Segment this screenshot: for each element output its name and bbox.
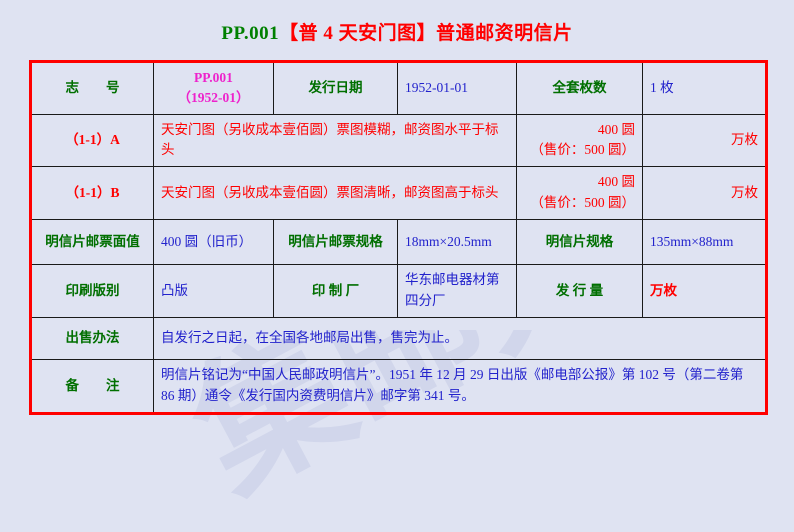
cell-value-printer: 华东邮电器材第四分厂	[398, 265, 517, 318]
cell-value-sale-method: 自发行之日起，在全国各地邮局出售，售完为止。	[154, 318, 767, 360]
cell-desc-variant-b: 天安门图（另收成本壹佰圆）票图清晰，邮资图高于标头	[154, 167, 517, 220]
cell-label-print-method: 印刷版别	[31, 265, 154, 318]
cell-label-set-count: 全套枚数	[517, 62, 643, 115]
cell-label-variant-a: （1-1）A	[31, 114, 154, 167]
cell-price-variant-b: 400 圆 （售价：500 圆）	[517, 167, 643, 220]
cell-quantity-variant-b: 万枚	[643, 167, 767, 220]
zhihao-year: （1952-01）	[161, 88, 266, 108]
table-row: 备 注 明信片铭记为“中国人民邮政明信片”。1951 年 12 月 29 日出版…	[31, 360, 767, 414]
cell-value-zhihao: PP.001 （1952-01）	[154, 62, 274, 115]
table-row: 志 号 PP.001 （1952-01） 发行日期 1952-01-01 全套枚…	[31, 62, 767, 115]
cell-value-print-method: 凸版	[154, 265, 274, 318]
zhihao-code: PP.001	[161, 68, 266, 88]
variant-b-sale-price: （售价：500 圆）	[524, 193, 635, 214]
cell-label-sale-method: 出售办法	[31, 318, 154, 360]
cell-value-issue-date: 1952-01-01	[398, 62, 517, 115]
cell-quantity-variant-a: 万枚	[643, 114, 767, 167]
cell-desc-variant-a: 天安门图（另收成本壹佰圆）票图模糊，邮资图水平于标头	[154, 114, 517, 167]
cell-label-zhihao: 志 号	[31, 62, 154, 115]
cell-label-variant-b: （1-1）B	[31, 167, 154, 220]
cell-label-stamp-size: 明信片邮票规格	[274, 220, 398, 265]
page-title-main: 【普 4 天安门图】普通邮资明信片	[279, 23, 573, 44]
cell-label-remarks: 备 注	[31, 360, 154, 414]
cell-label-printer: 印 制 厂	[274, 265, 398, 318]
cell-label-issue-date: 发行日期	[274, 62, 398, 115]
variant-a-face-value: 400 圆	[524, 120, 635, 141]
cell-value-set-count: 1 枚	[643, 62, 767, 115]
cell-label-face-value: 明信片邮票面值	[31, 220, 154, 265]
variant-b-face-value: 400 圆	[524, 172, 635, 193]
cell-value-face-value: 400 圆（旧币）	[154, 220, 274, 265]
table-row: 印刷版别 凸版 印 制 厂 华东邮电器材第四分厂 发 行 量 万枚	[31, 265, 767, 318]
cell-label-print-quantity: 发 行 量	[517, 265, 643, 318]
page-title-code: PP.001	[221, 23, 279, 44]
stamp-info-table: 志 号 PP.001 （1952-01） 发行日期 1952-01-01 全套枚…	[29, 60, 768, 415]
cell-value-print-quantity: 万枚	[643, 265, 767, 318]
page-title: PP.001【普 4 天安门图】普通邮资明信片	[0, 0, 794, 45]
cell-price-variant-a: 400 圆 （售价：500 圆）	[517, 114, 643, 167]
table-row: （1-1）B 天安门图（另收成本壹佰圆）票图清晰，邮资图高于标头 400 圆 （…	[31, 167, 767, 220]
table-row: （1-1）A 天安门图（另收成本壹佰圆）票图模糊，邮资图水平于标头 400 圆 …	[31, 114, 767, 167]
cell-value-card-size: 135mm×88mm	[643, 220, 767, 265]
cell-value-stamp-size: 18mm×20.5mm	[398, 220, 517, 265]
table-row: 明信片邮票面值 400 圆（旧币） 明信片邮票规格 18mm×20.5mm 明信…	[31, 220, 767, 265]
variant-a-sale-price: （售价：500 圆）	[524, 140, 635, 161]
table-row: 出售办法 自发行之日起，在全国各地邮局出售，售完为止。	[31, 318, 767, 360]
cell-label-card-size: 明信片规格	[517, 220, 643, 265]
stamp-info-table-container: 志 号 PP.001 （1952-01） 发行日期 1952-01-01 全套枚…	[29, 60, 765, 415]
cell-value-remarks: 明信片铭记为“中国人民邮政明信片”。1951 年 12 月 29 日出版《邮电部…	[154, 360, 767, 414]
